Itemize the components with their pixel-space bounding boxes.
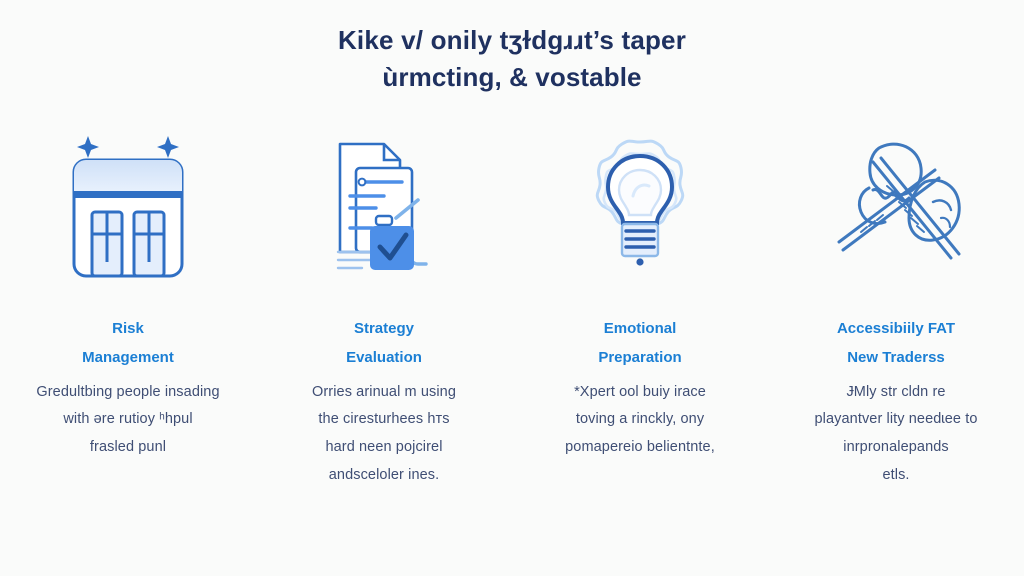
- feature-column-accessibility: Accessibiily FAT New Traderss ɈMly str c…: [770, 132, 1022, 490]
- feature-column-emotional-preparation: Emotional Preparation *Xpert ool buiy ir…: [514, 132, 766, 462]
- feature-columns: Risk Management Gredultbing people insad…: [0, 132, 1024, 490]
- feature-heading: Emotional Preparation: [598, 314, 681, 373]
- title-line-2: ùrmcting, & vostable: [132, 59, 892, 96]
- feature-body: Gredultbing people insading with əre rut…: [8, 379, 248, 463]
- feature-body: Orries arinual m using the ciresturhees …: [264, 379, 504, 491]
- abstract-sketch-icon: [816, 132, 976, 282]
- infographic-root: Kike v/ onily tʒɫdgɹɹt’s taper ùrmcting,…: [0, 0, 1024, 576]
- document-checkmark-icon: [304, 132, 464, 282]
- feature-heading: Risk Management: [82, 314, 174, 373]
- feature-body: ɈMly str cldn re playantver lity needɩee…: [771, 379, 1021, 491]
- page-title: Kike v/ onily tʒɫdgɹɹt’s taper ùrmcting,…: [132, 22, 892, 96]
- feature-column-strategy-evaluation: Strategy Evaluation Orries arinual m usi…: [258, 132, 510, 490]
- feature-heading: Strategy Evaluation: [346, 314, 422, 373]
- title-line-1: Kike v/ onily tʒɫdgɹɹt’s taper: [132, 22, 892, 59]
- feature-body: *Xpert ool buiy irace toving a rinckly, …: [520, 379, 760, 463]
- feature-column-risk-management: Risk Management Gredultbing people insad…: [2, 132, 254, 462]
- feature-heading: Accessibiily FAT New Traderss: [837, 314, 955, 373]
- bank-building-icon: [48, 132, 208, 282]
- lightbulb-idea-icon: [560, 132, 720, 282]
